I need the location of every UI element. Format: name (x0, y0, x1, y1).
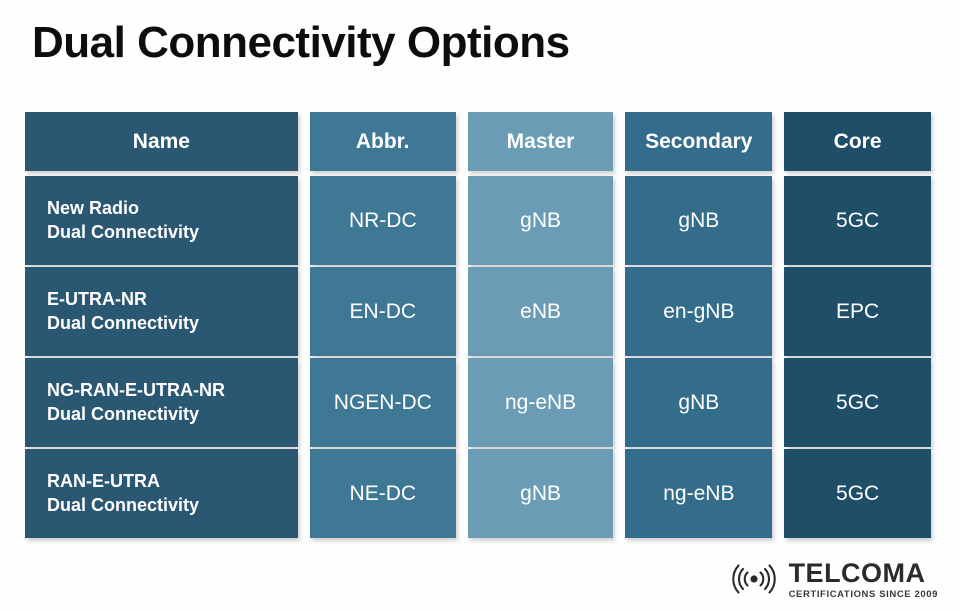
cell-master: ng-eNB (468, 358, 614, 447)
column-header-core: Core (784, 112, 931, 171)
cell-name-line-1: NG-RAN-E-UTRA-NR (47, 379, 225, 402)
cell-secondary: ng-eNB (625, 449, 772, 538)
table-row: E-UTRA-NR Dual Connectivity EN-DC eNB en… (25, 267, 931, 356)
cell-name: NG-RAN-E-UTRA-NR Dual Connectivity (25, 358, 298, 447)
column-header-master: Master (468, 112, 614, 171)
cell-secondary: gNB (625, 358, 772, 447)
cell-name: E-UTRA-NR Dual Connectivity (25, 267, 298, 356)
column-header-abbr: Abbr. (310, 112, 456, 171)
cell-name: New Radio Dual Connectivity (25, 176, 298, 265)
cell-name-line-2: Dual Connectivity (47, 403, 225, 426)
cell-name: RAN-E-UTRA Dual Connectivity (25, 449, 298, 538)
table-row: New Radio Dual Connectivity NR-DC gNB gN… (25, 176, 931, 265)
column-header-name: Name (25, 112, 298, 171)
telcoma-logo: TELCOMA CERTIFICATIONS SINCE 2009 (726, 560, 938, 600)
table-header-row: Name Abbr. Master Secondary Core (25, 112, 931, 171)
logo-tagline: CERTIFICATIONS SINCE 2009 (789, 590, 938, 600)
cell-core: 5GC (784, 176, 931, 265)
cell-name-line-2: Dual Connectivity (47, 312, 199, 335)
cell-secondary: en-gNB (625, 267, 772, 356)
cell-secondary: gNB (625, 176, 772, 265)
logo-name: TELCOMA (789, 560, 926, 587)
cell-core: 5GC (784, 358, 931, 447)
cell-abbr: NE-DC (310, 449, 456, 538)
table-row: NG-RAN-E-UTRA-NR Dual Connectivity NGEN-… (25, 358, 931, 447)
signal-wave-icon (726, 561, 782, 597)
slide-canvas: Dual Connectivity Options Name Abbr. Mas… (0, 0, 960, 611)
cell-master: gNB (468, 449, 614, 538)
cell-core: 5GC (784, 449, 931, 538)
cell-name-line-2: Dual Connectivity (47, 494, 199, 517)
cell-master: eNB (468, 267, 614, 356)
cell-name-line-1: RAN-E-UTRA (47, 470, 199, 493)
cell-abbr: NGEN-DC (310, 358, 456, 447)
cell-name-line-2: Dual Connectivity (47, 221, 199, 244)
table-row: RAN-E-UTRA Dual Connectivity NE-DC gNB n… (25, 449, 931, 538)
page-title: Dual Connectivity Options (32, 18, 570, 68)
cell-core: EPC (784, 267, 931, 356)
cell-master: gNB (468, 176, 614, 265)
cell-abbr: NR-DC (310, 176, 456, 265)
cell-abbr: EN-DC (310, 267, 456, 356)
column-header-secondary: Secondary (625, 112, 772, 171)
cell-name-line-1: E-UTRA-NR (47, 288, 199, 311)
cell-name-line-1: New Radio (47, 197, 199, 220)
dual-connectivity-table: Name Abbr. Master Secondary Core New Rad… (25, 112, 931, 540)
